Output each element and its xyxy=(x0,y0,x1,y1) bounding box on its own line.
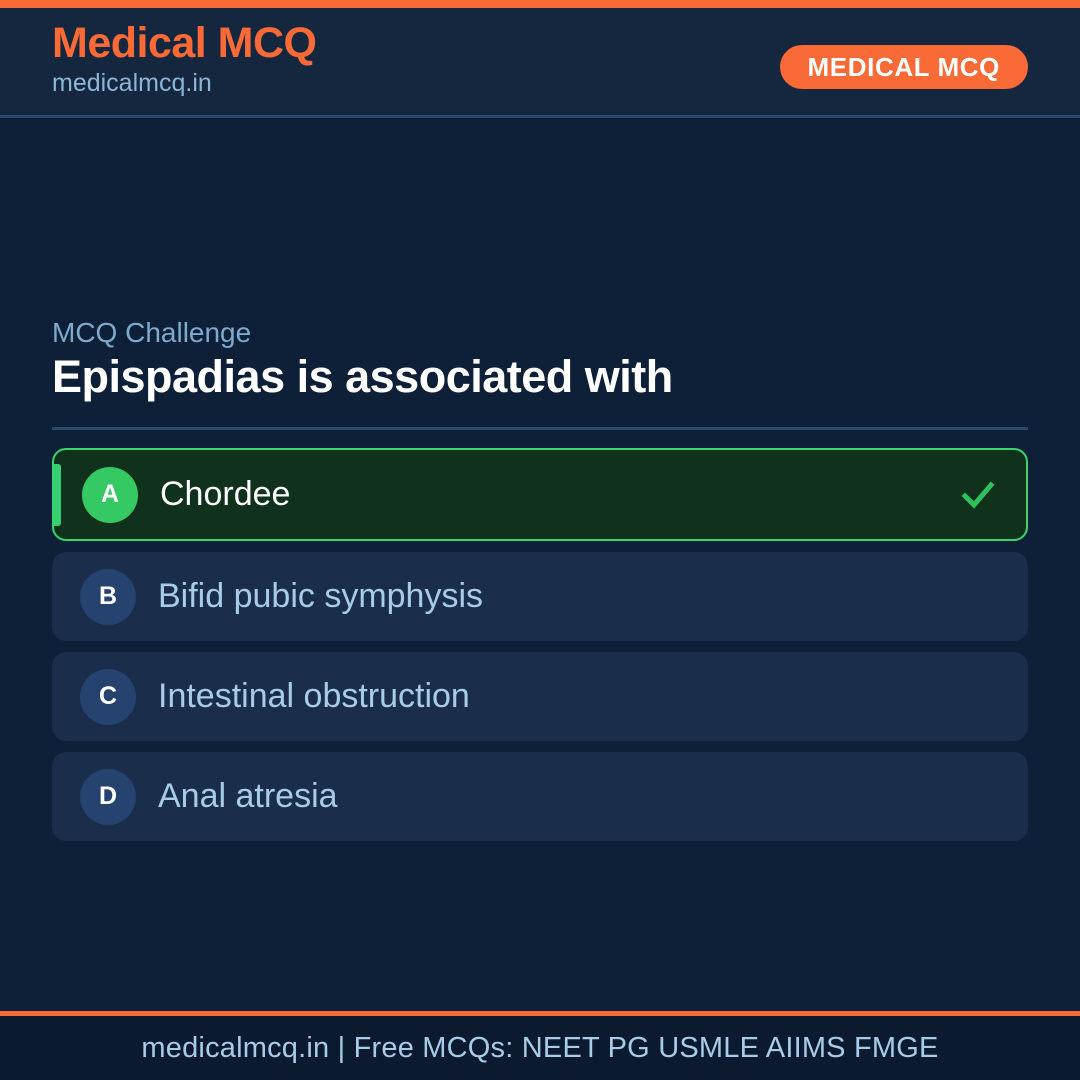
brand-title: Medical MCQ xyxy=(52,20,317,66)
option-letter-badge-c: C xyxy=(80,669,136,725)
page-header: Medical MCQ medicalmcq.in MEDICAL MCQ xyxy=(0,8,1080,118)
option-label-d: Anal atresia xyxy=(158,777,338,816)
options-list: A Chordee B Bifid pubic symphysis C Inte… xyxy=(52,448,1028,852)
footer-text: medicalmcq.in | Free MCQs: NEET PG USMLE… xyxy=(141,1032,938,1065)
question-divider xyxy=(52,427,1028,430)
question-title: Epispadias is associated with xyxy=(52,351,1042,403)
check-icon xyxy=(958,475,998,515)
brand-subtitle: medicalmcq.in xyxy=(52,68,317,98)
option-label-a: Chordee xyxy=(160,475,290,514)
option-row-b[interactable]: B Bifid pubic symphysis xyxy=(52,552,1028,641)
option-row-d[interactable]: D Anal atresia xyxy=(52,752,1028,841)
question-eyebrow: MCQ Challenge xyxy=(52,317,251,349)
option-letter-badge-b: B xyxy=(80,569,136,625)
brand-block: Medical MCQ medicalmcq.in xyxy=(52,20,317,98)
top-accent-bar xyxy=(0,0,1080,8)
brand-pill-label: MEDICAL MCQ xyxy=(808,52,1000,83)
brand-pill-badge: MEDICAL MCQ xyxy=(780,45,1028,89)
correct-accent-bar xyxy=(54,464,61,526)
option-label-c: Intestinal obstruction xyxy=(158,677,470,716)
option-letter-badge-d: D xyxy=(80,769,136,825)
page-footer: medicalmcq.in | Free MCQs: NEET PG USMLE… xyxy=(0,1011,1080,1080)
option-letter-badge-a: A xyxy=(82,467,138,523)
option-row-a[interactable]: A Chordee xyxy=(52,448,1028,541)
option-row-c[interactable]: C Intestinal obstruction xyxy=(52,652,1028,741)
main-content: MCQ Challenge Epispadias is associated w… xyxy=(0,121,1080,1011)
option-label-b: Bifid pubic symphysis xyxy=(158,577,483,616)
